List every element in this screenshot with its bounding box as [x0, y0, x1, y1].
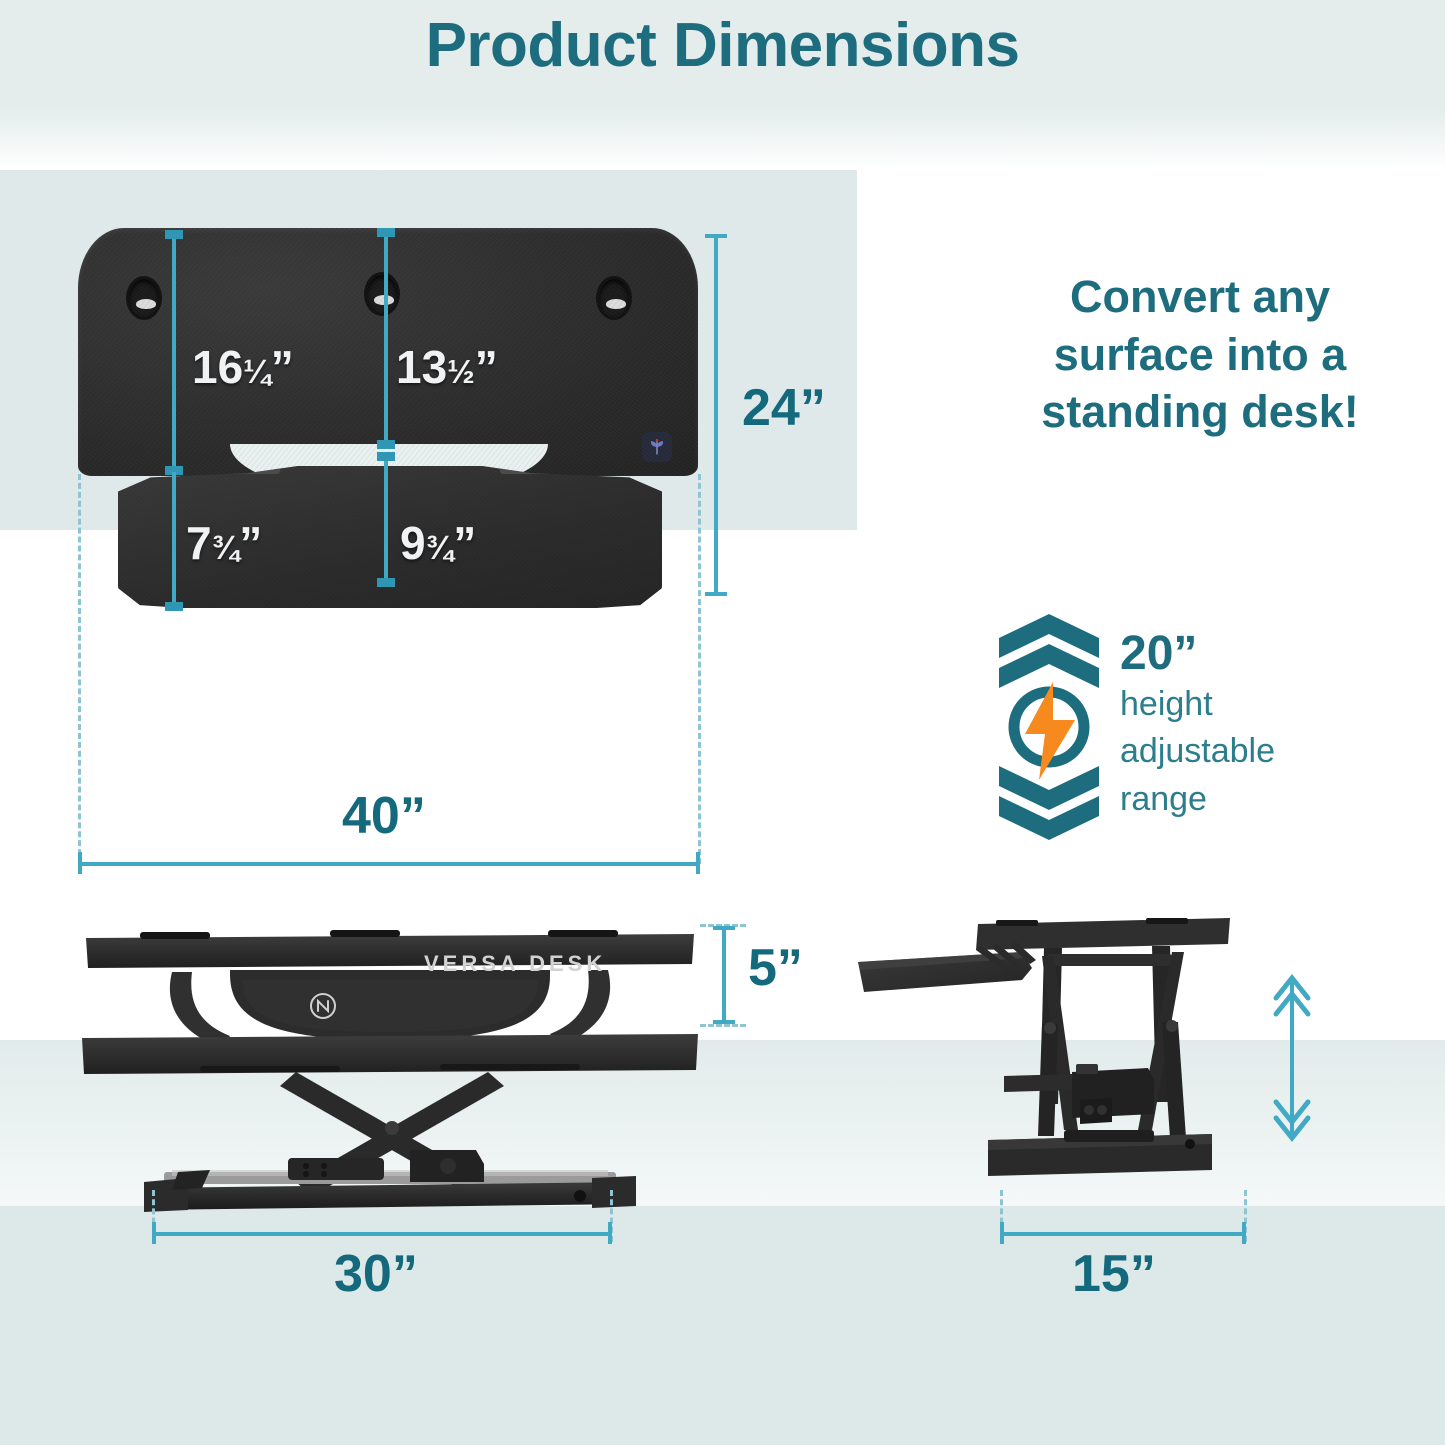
guide-line-desktop-left: [172, 234, 176, 472]
guide-tick-desktop-left-top: [165, 230, 183, 239]
guide-tick-tray-left-bottom: [165, 602, 183, 611]
height-adjust-line-1: height: [1120, 684, 1370, 725]
base-width-dimension-line: [152, 1232, 612, 1236]
guide-line-tray-left: [172, 472, 176, 608]
guide-tick-desktop-center-bottom: [377, 440, 395, 449]
width-dimension-cap-right: [696, 852, 700, 874]
width-dimension-cap-left: [78, 852, 82, 874]
bottom-band: [0, 1206, 1445, 1445]
tray-left-depth-value: 7: [186, 517, 212, 569]
front-view-illustration: [80, 920, 700, 1220]
guide-tick-tray-center-top: [377, 452, 395, 461]
side-depth-label: 15”: [1072, 1244, 1156, 1304]
side-depth-cap-left: [1000, 1222, 1004, 1244]
guide-line-tray-center: [384, 456, 388, 584]
guide-tick-desktop-center-top: [377, 228, 395, 237]
desktop-right-depth-unit: ”: [475, 341, 498, 393]
height-adjust-callout: 20” height adjustable range: [1120, 630, 1370, 820]
height-dimension-cap-top: [713, 926, 735, 930]
tagline: Convert any surface into a standing desk…: [1000, 268, 1400, 441]
depth-dimension-line: [714, 234, 718, 596]
guide-tick-tray-center-bottom: [377, 578, 395, 587]
top-band-fade: [0, 108, 1445, 170]
side-depth-cap-right: [1242, 1222, 1246, 1244]
height-dimension-cap-bottom: [713, 1020, 735, 1024]
height-adjust-value: 20”: [1120, 630, 1370, 678]
height-dimension-label: 5”: [748, 938, 803, 998]
width-dimension-label: 40”: [342, 786, 426, 846]
brand-badge-icon: [642, 432, 672, 462]
desktop-right-depth-value: 13: [396, 341, 447, 393]
height-adjust-line-3: range: [1120, 779, 1370, 820]
tagline-line-1: Convert any: [1000, 268, 1400, 326]
side-view-illustration: [846, 904, 1266, 1204]
infographic-canvas: Product Dimensions Convert any surface i…: [0, 0, 1445, 1445]
height-adjust-line-2: adjustable: [1120, 731, 1370, 772]
desktop-left-depth-value: 16: [192, 341, 243, 393]
depth-dimension-label: 24”: [742, 378, 826, 438]
side-depth-dimension-line: [1000, 1232, 1246, 1236]
page-title: Product Dimensions: [0, 10, 1445, 81]
tray-left-depth-fraction: ¾: [212, 530, 240, 567]
base-width-cap-left: [152, 1222, 156, 1244]
tagline-line-3: standing desk!: [1000, 383, 1400, 441]
tray-right-depth-label: 9¾”: [400, 516, 476, 570]
depth-dimension-cap-bottom: [705, 592, 727, 596]
desktop-right-depth-fraction: ½: [447, 354, 475, 391]
double-arrow-icon: [1262, 968, 1322, 1148]
tray-right-depth-unit: ”: [453, 517, 476, 569]
grommet-hole-center: [364, 272, 400, 316]
tagline-line-2: surface into a: [1000, 326, 1400, 384]
height-adjust-bolt-icon: [995, 612, 1103, 842]
base-width-label: 30”: [334, 1244, 418, 1304]
desktop-left-depth-label: 16¼”: [192, 340, 294, 394]
width-extension-line-right: [698, 474, 701, 864]
desktop-right-depth-label: 13½”: [396, 340, 498, 394]
guide-line-desktop-center: [384, 232, 388, 444]
width-dimension-line: [78, 862, 700, 866]
width-extension-line-left: [78, 474, 81, 864]
height-dimension-line: [722, 926, 726, 1024]
brand-wordmark: VERSA DESK: [424, 951, 606, 977]
tray-left-depth-label: 7¾”: [186, 516, 262, 570]
desktop-left-depth-fraction: ¼: [243, 354, 271, 391]
base-width-cap-right: [608, 1222, 612, 1244]
desktop-surface-top-view: [78, 228, 698, 476]
tray-left-depth-unit: ”: [239, 517, 262, 569]
desktop-left-depth-unit: ”: [271, 341, 294, 393]
grommet-hole-left: [126, 276, 162, 320]
tray-right-depth-value: 9: [400, 517, 426, 569]
depth-dimension-cap-top: [705, 234, 727, 238]
tray-right-depth-fraction: ¾: [426, 530, 454, 567]
grommet-hole-right: [596, 276, 632, 320]
height-extension-line-bottom: [700, 1024, 746, 1027]
